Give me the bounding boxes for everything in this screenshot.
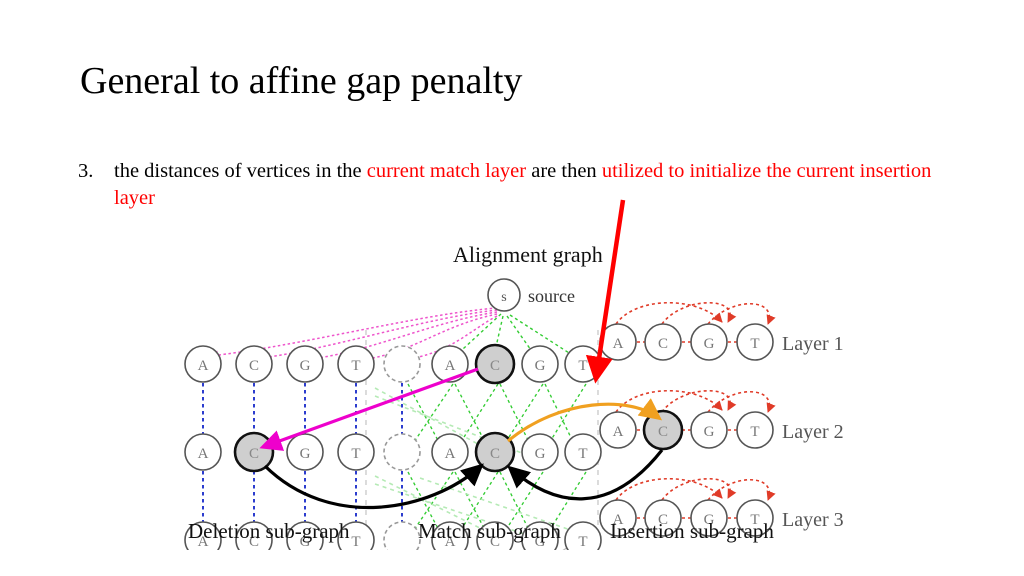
layer-1-label: Layer 1 [782, 333, 844, 355]
node-label: C [658, 336, 668, 352]
black-arrow-deletion-to-match [265, 466, 481, 508]
node-label: T [351, 358, 360, 374]
node-insertion-r1c4: T [737, 324, 773, 360]
source-node-label: s [501, 290, 506, 305]
bullet-item-3: 3. the distances of vertices in the curr… [78, 158, 958, 212]
node-match-r1c4: T [565, 346, 601, 382]
node-label: T [578, 358, 587, 374]
node-label: C [249, 446, 259, 462]
node-label: A [613, 424, 624, 440]
node-deletion-r2c3: G [287, 434, 323, 470]
node-label: T [351, 534, 360, 550]
node-label: C [249, 358, 259, 374]
node-label: C [490, 446, 500, 462]
bullet-segment-highlight-1: current match layer [367, 160, 526, 182]
node-deletion-r1c3: G [287, 346, 323, 382]
bullet-text: the distances of vertices in the current… [114, 158, 958, 212]
node-label: A [613, 336, 624, 352]
bullet-list: 3. the distances of vertices in the curr… [78, 158, 958, 212]
node-match-r2c0-placeholder [384, 434, 420, 470]
node-match-r1c1: A [432, 346, 468, 382]
node-label: G [704, 424, 715, 440]
bullet-segment-plain-1: the distances of vertices in the [114, 160, 367, 182]
node-match-r1c2-highlighted: C [476, 345, 514, 383]
insertion-subgraph-label: Insertion sub-graph [610, 519, 774, 543]
node-label: A [198, 446, 209, 462]
node-match-r3c4: T [565, 522, 601, 550]
figure-title: Alignment graph [453, 242, 603, 267]
deletion-subgraph-label: Deletion sub-graph [188, 519, 350, 543]
source-caption: source [528, 286, 575, 306]
node-match-r2c4: T [565, 434, 601, 470]
node-insertion-r2c4: T [737, 412, 773, 448]
node-match-r1c3: G [522, 346, 558, 382]
node-insertion-r2c2-highlighted: C [644, 411, 682, 449]
alignment-graph-svg: A C G T A [170, 238, 860, 550]
node-label: G [535, 358, 546, 374]
node-deletion-r2c2-highlighted: C [235, 433, 273, 471]
node-insertion-r1c2: C [645, 324, 681, 360]
node-deletion-r2c1: A [185, 434, 221, 470]
bullet-segment-plain-2: are then [526, 160, 602, 182]
alignment-graph-figure: A C G T A [170, 238, 860, 550]
slide-canvas: General to affine gap penalty 3. the dis… [0, 0, 1024, 576]
source-node: s [488, 279, 520, 311]
match-subgraph-label: Match sub-graph [418, 519, 561, 543]
node-match-r2c1: A [432, 434, 468, 470]
insertion-subgraph-nodes: A C G T A [600, 324, 773, 536]
node-label: T [578, 534, 587, 550]
bullet-number: 3. [78, 158, 114, 185]
node-label: C [658, 424, 668, 440]
node-label: A [198, 358, 209, 374]
node-label: G [300, 358, 311, 374]
node-label: T [351, 446, 360, 462]
node-match-r1c0-placeholder [384, 346, 420, 382]
node-insertion-r1c1: A [600, 324, 636, 360]
node-label: C [490, 358, 500, 374]
node-label: T [750, 424, 759, 440]
node-insertion-r1c3: G [691, 324, 727, 360]
node-deletion-r1c1: A [185, 346, 221, 382]
node-label: G [704, 336, 715, 352]
node-label: G [300, 446, 311, 462]
node-insertion-r2c1: A [600, 412, 636, 448]
node-match-r2c3: G [522, 434, 558, 470]
node-insertion-r2c3: G [691, 412, 727, 448]
node-label: G [535, 446, 546, 462]
node-label: A [445, 358, 456, 374]
node-label: T [578, 446, 587, 462]
layer-2-label: Layer 2 [782, 421, 844, 443]
page-title: General to affine gap penalty [80, 58, 522, 104]
node-deletion-r2c4: T [338, 434, 374, 470]
layer-3-label: Layer 3 [782, 509, 844, 531]
node-label: A [445, 446, 456, 462]
node-deletion-r1c2: C [236, 346, 272, 382]
node-match-r3c0-placeholder [384, 522, 420, 550]
node-label: T [750, 336, 759, 352]
node-deletion-r1c4: T [338, 346, 374, 382]
